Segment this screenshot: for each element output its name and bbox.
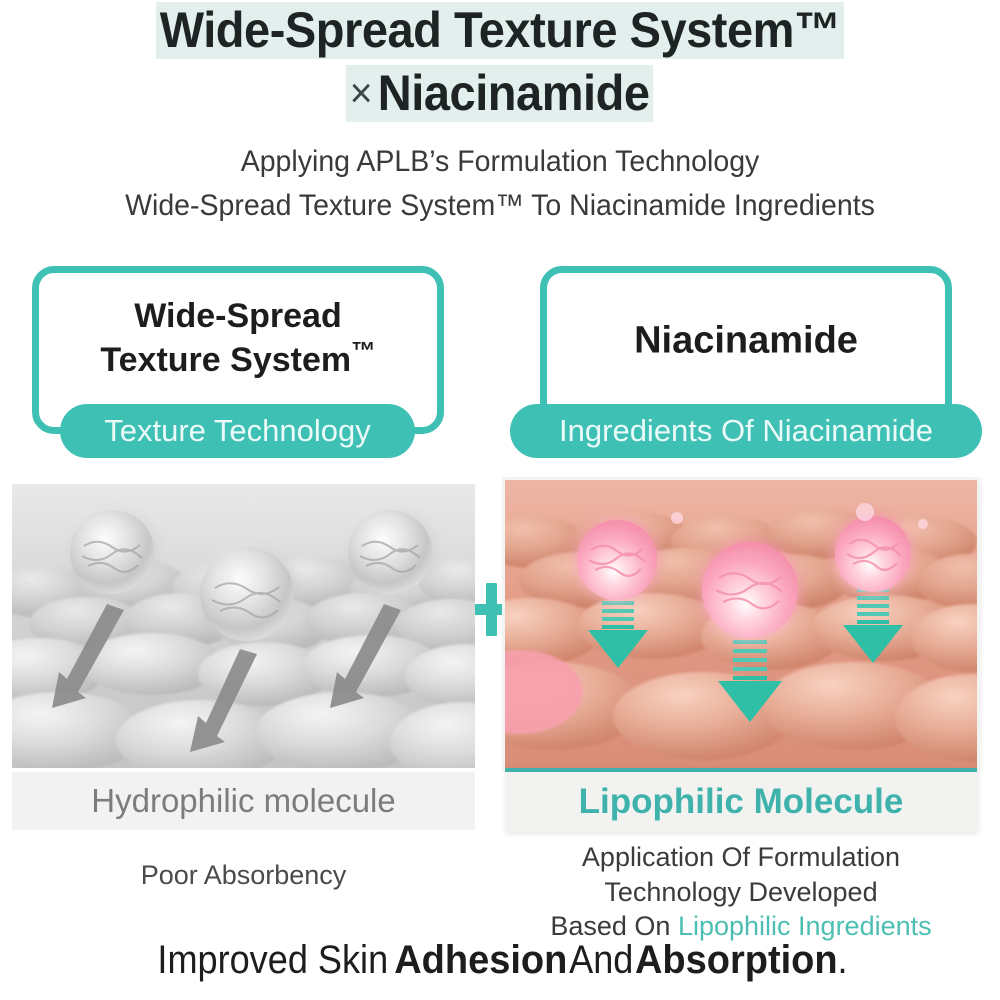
subtitle-line-2: Wide-Spread Texture System™ To Niacinami… — [25, 184, 975, 228]
footer-prefix: Improved Skin — [158, 938, 389, 983]
pill-texture-technology: Texture Technology — [60, 404, 415, 458]
footer-bold-adhesion: Adhesion — [394, 938, 567, 982]
title-line-1-text: Wide-Spread Texture System™ — [156, 2, 844, 59]
footer-statement: Improved Skin Adhesion And Absorption. — [0, 938, 1000, 983]
caption-hydrophilic: Hydrophilic molecule — [12, 772, 475, 830]
note-lipophilic-line-2: Technology Developed — [505, 875, 977, 910]
title-line-2: ×Niacinamide — [0, 65, 1000, 122]
card-texture-system-title-line2: Texture System™ — [39, 337, 437, 382]
promo-graphic: Wide-Spread Texture System™ ×Niacinamide… — [0, 0, 1000, 1000]
title-block: Wide-Spread Texture System™ ×Niacinamide — [0, 2, 1000, 122]
footer-middle: And — [569, 938, 633, 983]
subtitle-block: Applying APLB’s Formulation Technology W… — [0, 140, 1000, 227]
card-texture-system-title-line1: Wide-Spread — [39, 296, 437, 337]
panel-hydrophilic-illustration — [12, 484, 475, 768]
cross-icon: × — [350, 69, 378, 116]
note-lipophilic-line-3-highlight: Lipophilic Ingredients — [678, 911, 932, 941]
note-lipophilic-line-1: Application Of Formulation — [505, 840, 977, 875]
subtitle-line-1: Applying APLB’s Formulation Technology — [25, 140, 975, 184]
pill-ingredients-of-niacinamide: Ingredients Of Niacinamide — [510, 404, 982, 458]
card-texture-system-title-line2-text: Texture System — [100, 342, 351, 380]
trademark-symbol: ™ — [351, 338, 375, 365]
note-lipophilic-block: Application Of Formulation Technology De… — [505, 840, 977, 944]
note-poor-absorbency: Poor Absorbency — [12, 860, 475, 891]
gray-skin-cells-svg — [12, 484, 475, 768]
pink-skin-cells-svg — [505, 480, 977, 768]
title-line-2-highlight: ×Niacinamide — [346, 65, 653, 122]
footer-suffix: . — [838, 938, 848, 983]
title-line-2-text: Niacinamide — [378, 65, 650, 121]
caption-lipophilic: Lipophilic Molecule — [505, 768, 977, 832]
card-texture-system-title: Wide-Spread Texture System™ — [39, 296, 437, 400]
note-lipophilic-line-3-prefix: Based On — [550, 911, 678, 941]
panel-lipophilic-illustration — [505, 480, 977, 768]
title-line-1: Wide-Spread Texture System™ — [0, 2, 1000, 59]
footer-bold-absorption: Absorption — [635, 938, 838, 982]
card-niacinamide-title: Niacinamide — [547, 318, 945, 380]
footer-inner: Improved Skin Adhesion And Absorption. — [152, 938, 849, 983]
